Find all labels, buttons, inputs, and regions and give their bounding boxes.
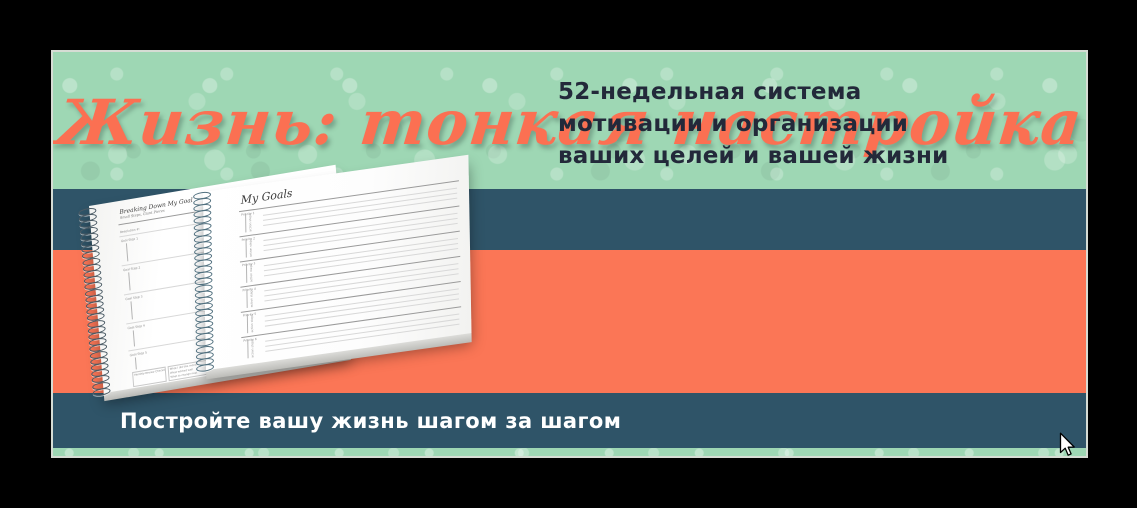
notebook-back-section-5: Goal Step 5 [130,350,148,357]
notebook-front-side-5: action steps [250,314,254,333]
mint-bottom-strip [53,448,1086,456]
spiral-binding-icon [78,207,108,394]
tagline-line-1: 52-недельная система [558,76,948,108]
tick [126,243,128,261]
tick [130,301,132,319]
banner-strapline: Постройте вашу жизнь шагом за шагом [120,404,621,438]
tick [133,330,135,346]
notebook-back-section-4: Goal Step 4 [127,323,145,330]
notebook-front-side-6: action steps [250,339,254,358]
notebook-back-section-3: Goal Step 3 [125,294,143,301]
tick [135,357,137,369]
screenshot-canvas: Жизнь: тонкая настройка 52-недельная сис… [0,0,1137,508]
footer-cell-text: Monthly Review Checklist [133,368,165,378]
tagline-line-3: ваших целей и вашей жизни [558,140,948,172]
notebook-front-side-3: action steps [249,264,253,283]
promo-banner[interactable]: Жизнь: тонкая настройка 52-недельная сис… [53,52,1086,456]
spiral-binding-icon [193,191,214,373]
notebook-front-side-2: action steps [248,238,252,257]
notebook-front-side-1: action steps [248,213,252,232]
tick [128,272,130,290]
notebook-back-section-2: Goal Step 2 [123,265,141,272]
notebook-back-section-1: Goal Step 1 [121,236,139,243]
notebook-front-side-4: action steps [249,289,253,308]
notebook-front: My Goals Priority 1 action steps Priorit… [203,155,472,372]
notebook-product-image: Breaking Down My Goal Small Steps, Giant… [61,192,471,407]
banner-tagline: 52-недельная система мотивации и организ… [558,76,948,172]
tagline-line-2: мотивации и организации [558,108,948,140]
